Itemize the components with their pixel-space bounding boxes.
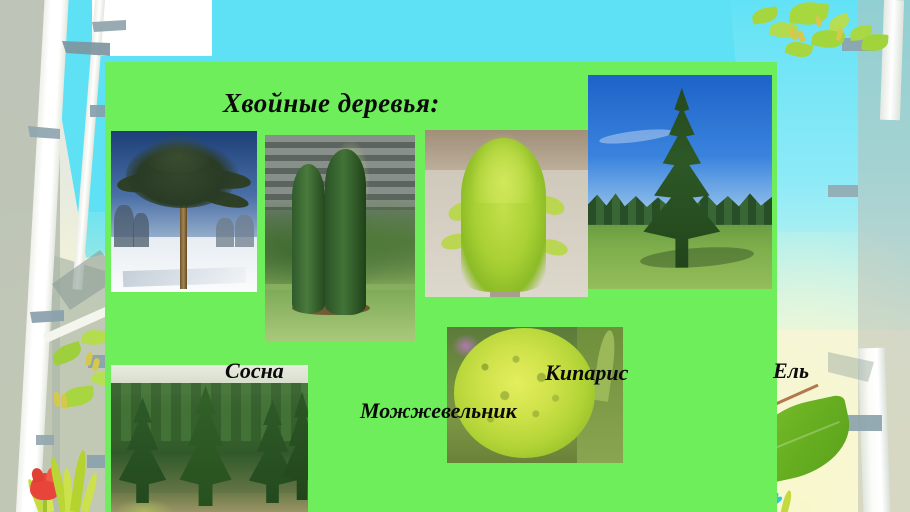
spruce-scene: [588, 75, 772, 289]
bark-mark-icon: [30, 310, 64, 323]
background-tree: [216, 218, 234, 247]
photo-juniper[interactable]: [265, 135, 415, 342]
fir-scene: [111, 365, 308, 512]
cypress-top: [471, 133, 536, 203]
juniper-scene: [265, 135, 415, 342]
pine-scene: [111, 131, 257, 292]
slide-canvas: Хвойные деревья:: [0, 0, 910, 512]
birch-catkin-icon: [60, 394, 67, 409]
thuja-scene: [447, 327, 623, 463]
content-panel: Хвойные деревья:: [105, 62, 777, 512]
photo-fir[interactable]: [111, 365, 308, 512]
photo-thuja[interactable]: [447, 327, 623, 463]
pine-crown-top: [143, 134, 213, 173]
background-tree: [133, 213, 149, 247]
juniper-column: [325, 149, 366, 315]
page-title: Хвойные деревья:: [223, 88, 440, 119]
bark-mark-icon: [92, 20, 126, 32]
birch-trunk-right-top: [880, 0, 904, 120]
label-juniper: Можжевельник: [360, 398, 517, 424]
bark-mark-icon: [36, 435, 54, 445]
label-spruce: Ель: [773, 358, 809, 384]
label-cypress: Кипарис: [545, 360, 628, 386]
background-tree: [114, 205, 134, 247]
juniper-column: [292, 164, 325, 313]
cypress-scene: [425, 130, 588, 297]
photo-pine[interactable]: [111, 131, 257, 292]
photo-cypress[interactable]: [425, 130, 588, 297]
background-tree: [235, 215, 254, 247]
photo-spruce[interactable]: [588, 75, 772, 289]
thuja-texture: [454, 328, 595, 457]
bark-mark-icon: [828, 185, 858, 197]
cloud: [599, 126, 673, 146]
label-pine: Сосна: [225, 358, 284, 384]
